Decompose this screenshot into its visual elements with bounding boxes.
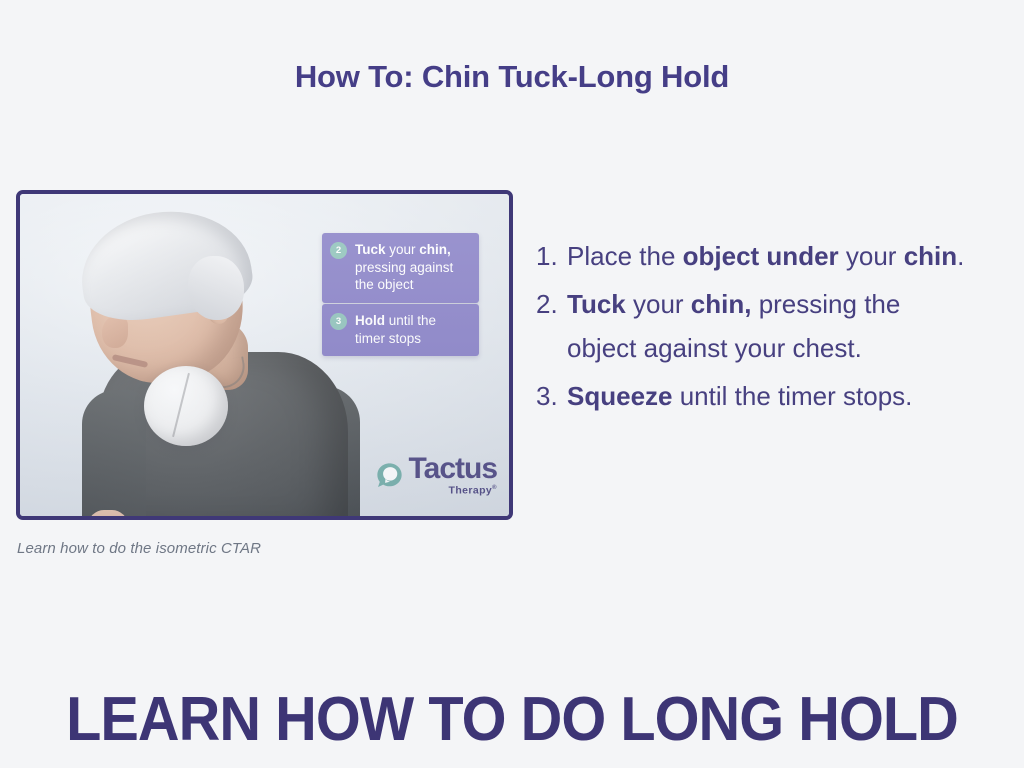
caption-bold-hold: Hold xyxy=(355,313,385,328)
logo-trademark: ® xyxy=(492,485,497,491)
caption-bold-chin: chin, xyxy=(419,242,451,257)
step-text-bold: chin xyxy=(904,241,957,271)
caption-plain-pressing: pressing against the object xyxy=(355,260,453,293)
tactus-therapy-logo: Tactus Therapy® xyxy=(376,455,497,497)
step-number: 3. xyxy=(536,374,558,418)
bottom-banner-headline: LEARN HOW TO DO LONG HOLD xyxy=(36,684,988,755)
video-player-card[interactable]: 2 Tuck your chin, pressing against the o… xyxy=(16,190,513,520)
caption-step-badge: 2 xyxy=(330,242,347,259)
step-text-plain: Place the xyxy=(567,241,683,271)
logo-subtitle: Therapy xyxy=(449,484,493,496)
step-text-plain: pressing the xyxy=(751,289,900,319)
step-text-plain: . xyxy=(957,241,964,271)
video-overlay-caption-2: 2 Tuck your chin, pressing against the o… xyxy=(322,233,479,303)
caption-plain-your: your xyxy=(386,242,420,257)
step-number: 2. xyxy=(536,282,558,326)
instruction-list: 1.Place the object under your chin. 2.Tu… xyxy=(536,234,1024,422)
person-hair-side xyxy=(188,256,244,320)
step-line-2: object against your chest. xyxy=(567,326,1024,370)
video-caption-text: Learn how to do the isometric CTAR xyxy=(17,540,261,557)
caption-bold-tuck: Tuck xyxy=(355,242,386,257)
instruction-step-2: 2.Tuck your chin, pressing theobject aga… xyxy=(536,282,1024,370)
step-text-plain: your xyxy=(626,289,691,319)
step-text-bold: object under xyxy=(683,241,839,271)
step-text-plain: your xyxy=(839,241,904,271)
caption-step-text: Hold until the timer stops xyxy=(355,312,469,347)
step-text-bold: Squeeze xyxy=(567,381,673,411)
video-overlay-caption-3: 3 Hold until the timer stops xyxy=(322,304,479,356)
step-number: 1. xyxy=(536,234,558,278)
step-line-1: Tuck your chin, pressing the xyxy=(567,282,1024,326)
person-nose xyxy=(102,316,128,348)
logo-wordmark: Tactus Therapy® xyxy=(409,455,497,497)
logo-subtitle-wrap: Therapy® xyxy=(449,482,497,497)
step-text-bold: chin, xyxy=(691,289,752,319)
video-frame[interactable]: 2 Tuck your chin, pressing against the o… xyxy=(20,194,509,516)
caption-step-badge: 3 xyxy=(330,313,347,330)
person-left-sleeve xyxy=(82,390,146,516)
instruction-step-1: 1.Place the object under your chin. xyxy=(536,234,1024,278)
caption-step-text: Tuck your chin, pressing against the obj… xyxy=(355,241,469,294)
step-text-bold: Tuck xyxy=(567,289,626,319)
instruction-step-3: 3.Squeeze until the timer stops. xyxy=(536,374,1024,418)
logo-name: Tactus xyxy=(409,455,497,483)
step-text-plain: until the timer stops. xyxy=(673,381,913,411)
tactus-speech-bubble-icon xyxy=(376,462,403,489)
page-title: How To: Chin Tuck-Long Hold xyxy=(0,59,1024,95)
